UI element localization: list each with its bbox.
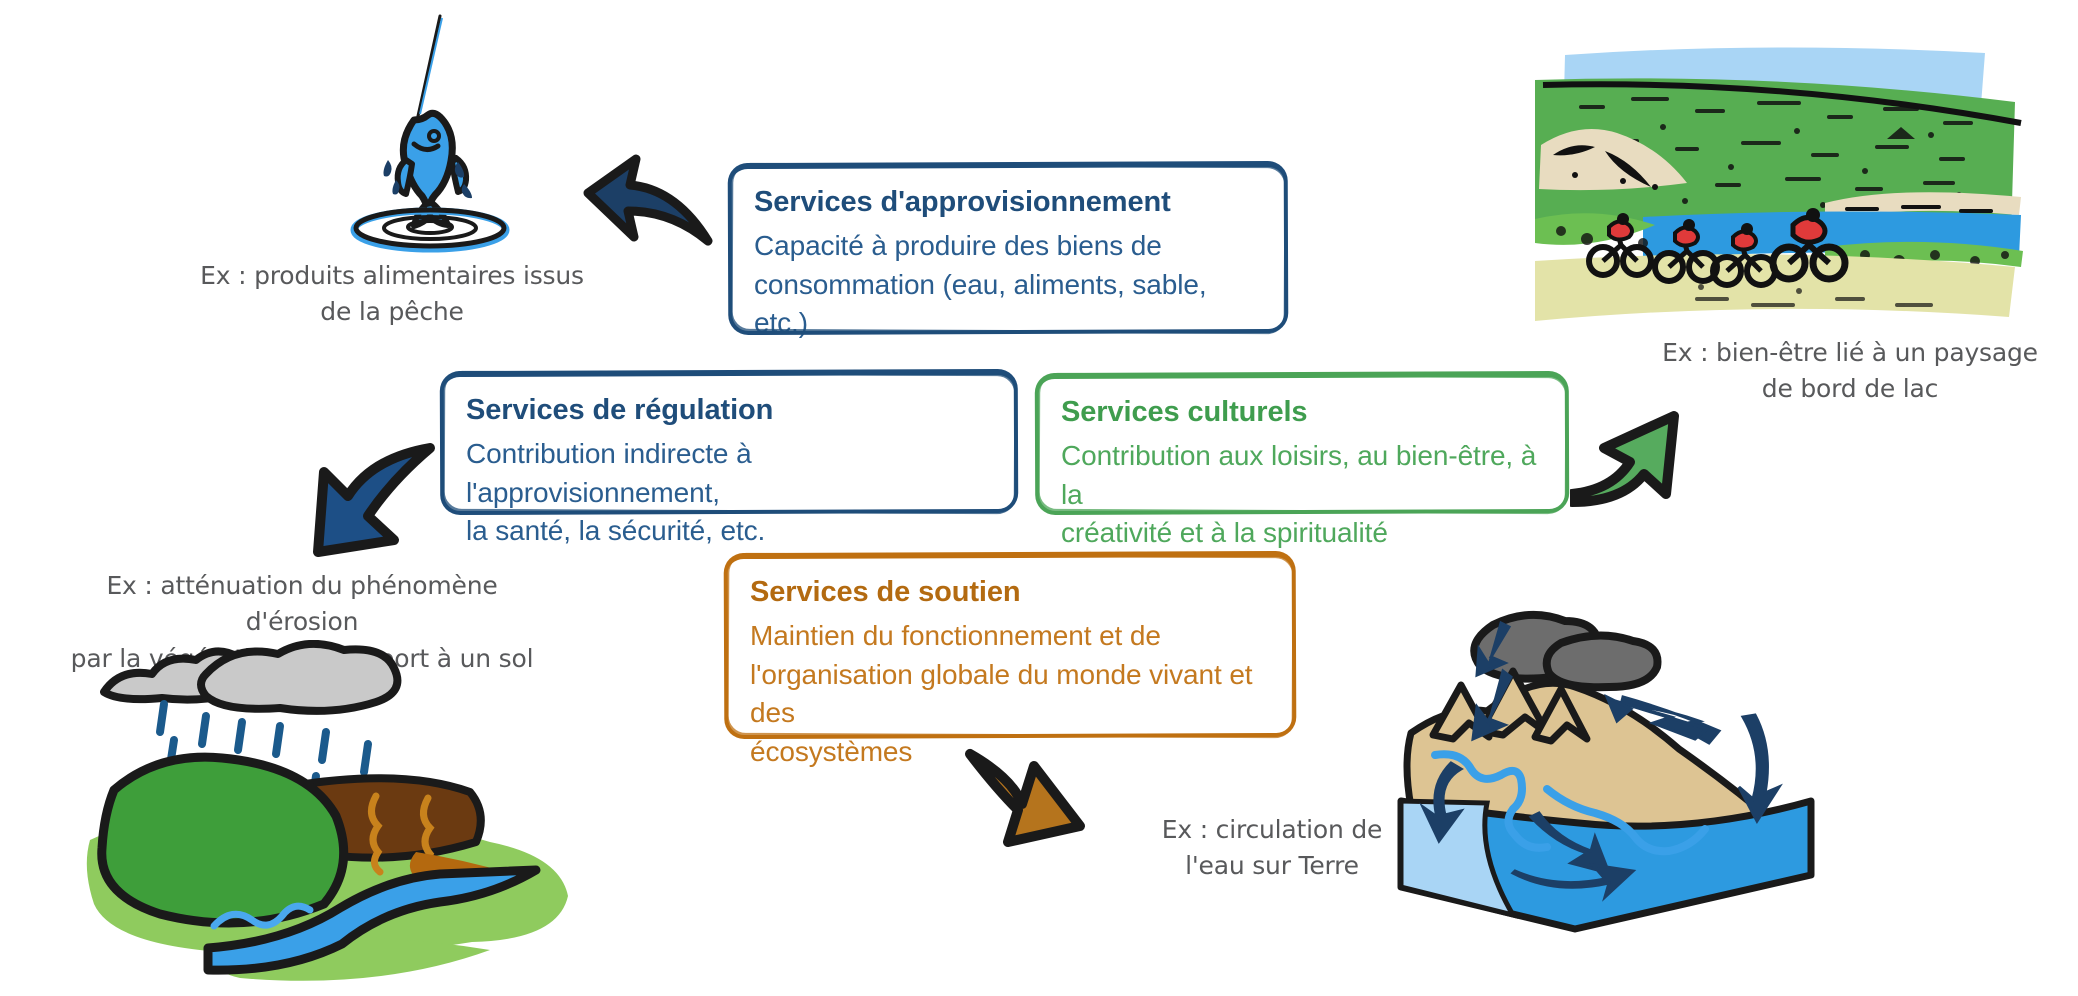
box-services-soutien[interactable]: Services de soutien Maintien du fonction… <box>724 552 1296 738</box>
erosion-hillside-illustration <box>80 640 580 990</box>
box-title-approvisionnement: Services d'approvisionnement <box>754 184 1262 221</box>
box-desc-approvisionnement-line-1: Capacité à produire des biens de <box>754 227 1262 266</box>
caption-eau-line-1: Ex : circulation de <box>1112 812 1432 848</box>
arrow-regulation-icon <box>308 436 440 568</box>
caption-erosion-line-1: Ex : atténuation du phénomène d'érosion <box>62 568 542 641</box>
box-services-culturels[interactable]: Services culturels Contribution aux lois… <box>1035 372 1569 514</box>
lake-cyclists-illustration <box>1535 35 2025 330</box>
box-desc-culturels-line-1: Contribution aux loisirs, au bien-être, … <box>1061 437 1543 514</box>
caption-lac-line-2: de bord de lac <box>1640 371 2060 407</box>
box-desc-regulation-line-2: la santé, la sécurité, etc. <box>466 512 992 551</box>
box-desc-approvisionnement-line-2: consommation (eau, aliments, sable, etc.… <box>754 266 1262 343</box>
caption-lac-line-1: Ex : bien-être lié à un paysage <box>1640 335 2060 371</box>
caption-peche: Ex : produits alimentaires issus de la p… <box>192 258 592 331</box>
caption-lac: Ex : bien-être lié à un paysage de bord … <box>1640 335 2060 408</box>
box-services-approvisionnement[interactable]: Services d'approvisionnement Capacité à … <box>728 162 1288 334</box>
caption-eau: Ex : circulation de l'eau sur Terre <box>1112 812 1432 885</box>
diagram-canvas: Ex : produits alimentaires issus de la p… <box>0 0 2078 996</box>
box-desc-regulation-line-1: Contribution indirecte à l'approvisionne… <box>466 435 992 512</box>
arrow-culturels-icon <box>1570 404 1692 516</box>
box-desc-soutien-line-2: l'organisation globale du monde vivant e… <box>750 656 1270 733</box>
caption-eau-line-2: l'eau sur Terre <box>1112 848 1432 884</box>
caption-peche-line-1: Ex : produits alimentaires issus <box>192 258 592 294</box>
box-desc-culturels-line-2: créativité et à la spiritualité <box>1061 514 1543 553</box>
box-title-soutien: Services de soutien <box>750 574 1270 611</box>
box-services-regulation[interactable]: Services de régulation Contribution indi… <box>440 370 1018 514</box>
caption-peche-line-2: de la pêche <box>192 294 592 330</box>
box-desc-soutien-line-1: Maintien du fonctionnement et de <box>750 617 1270 656</box>
fish-on-line-illustration <box>330 8 540 258</box>
arrow-soutien-icon <box>960 748 1090 858</box>
water-cycle-illustration <box>1385 605 1825 935</box>
arrow-approvisionnement-icon <box>580 145 720 255</box>
box-title-culturels: Services culturels <box>1061 394 1543 431</box>
box-title-regulation: Services de régulation <box>466 392 992 429</box>
